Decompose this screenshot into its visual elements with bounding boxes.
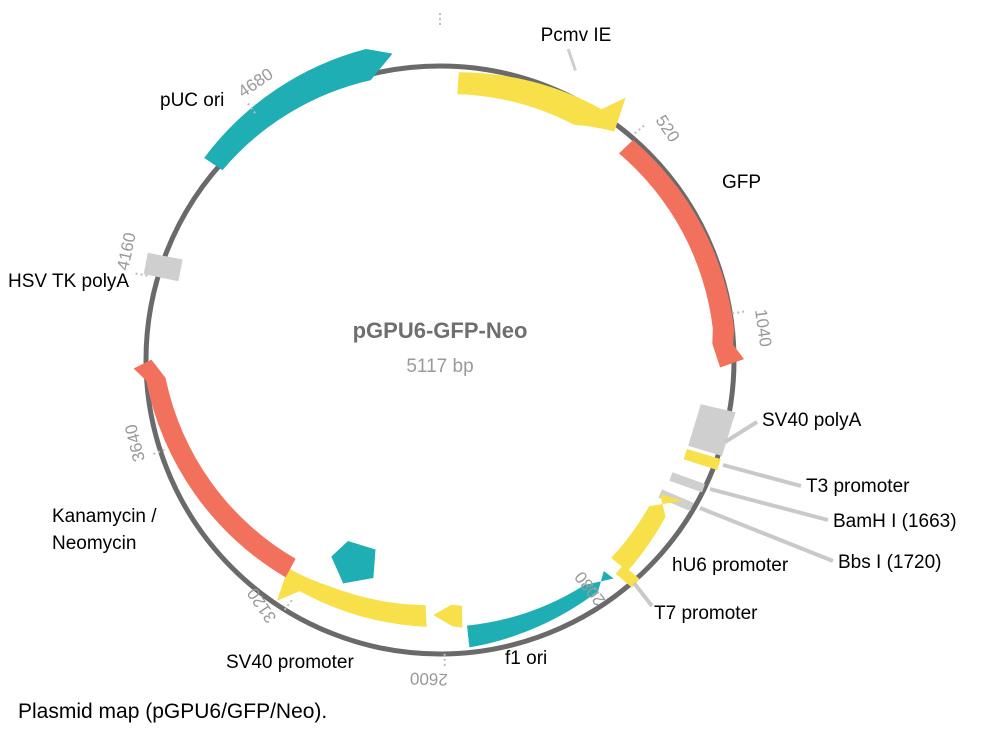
tickmark-1040 [732,311,747,314]
tick-label-2600: 2600 [410,669,448,689]
feature-label-bbsi: Bbs I (1720) [838,552,942,573]
figure-caption: Plasmid map (pGPU6/GFP/Neo). [18,700,327,724]
leader-line-t3-promoter [723,465,801,486]
feature-label-bamhi: BamH I (1663) [833,511,957,532]
feature-labels: Pcmv IE GFP SV40 polyA T3 promoter BamH … [8,25,957,673]
plasmid-length: 5117 bp [406,356,473,377]
feature-label-kanamycin-line2: Neomycin [52,533,136,554]
feature-label-f1-ori: f1 ori [505,648,547,669]
feature-label-t3-promoter: T3 promoter [806,476,910,497]
tick-label-1040: 1040 [751,308,775,348]
tick-label-4160: 4160 [113,231,139,272]
plasmid-diagram: 520 1040 2080 2600 3120 3640 4160 4680 P… [0,0,982,744]
plasmid-map-figure: 520 1040 2080 2600 3120 3640 4160 4680 P… [0,0,982,744]
feature-label-hsv-tk-polya: HSV TK polyA [8,271,129,292]
feature-label-gfp: GFP [722,172,761,193]
feature-box-hsv-tk-polya[interactable] [144,253,183,281]
restriction-site-bamhi[interactable] [669,472,705,492]
leader-line-t7-promoter [634,583,652,606]
tick-label-520: 520 [652,112,684,146]
plasmid-name: pGPU6-GFP-Neo [353,318,528,343]
feature-divider-pcmv-ie [568,49,575,71]
feature-label-t7-promoter: T7 promoter [654,603,758,624]
feature-label-sv40-polya: SV40 polyA [762,410,862,431]
feature-arc-sv40-promoter-small[interactable] [433,605,462,628]
feature-label-pcmv-ie: Pcmv IE [541,25,612,46]
feature-label-kanamycin-line1: Kanamycin / [52,506,157,527]
feature-arc-puc-ori[interactable] [204,49,392,170]
tick-label-3640: 3640 [121,422,149,463]
feature-label-sv40-promoter: SV40 promoter [226,652,354,673]
inner-feature-pentagon[interactable] [331,541,375,583]
feature-box-sv40-polya[interactable] [688,404,735,456]
feature-label-hu6-promoter: hU6 promoter [672,555,789,576]
feature-arc-kanamycin-neomycin[interactable] [134,360,296,578]
tickmark-520 [635,124,646,134]
feature-arc-pcmv-ie[interactable] [457,72,625,131]
feature-label-puc-ori: pUC ori [160,90,224,111]
